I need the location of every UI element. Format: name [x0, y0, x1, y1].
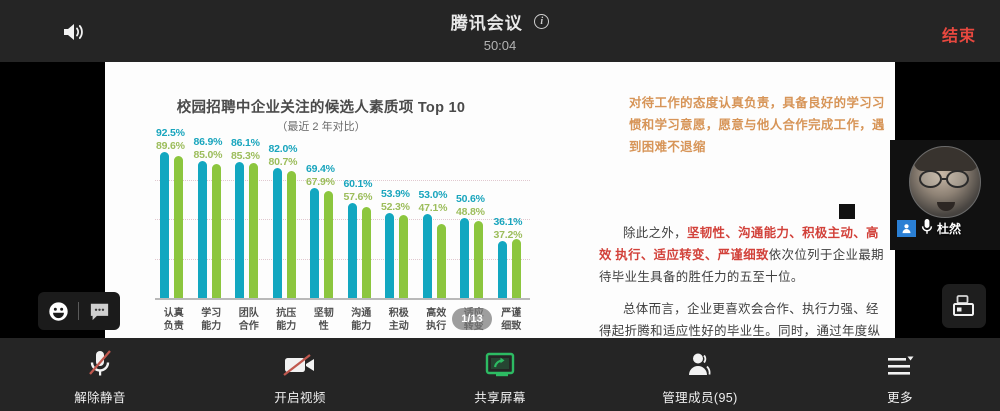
bar-green — [212, 164, 221, 298]
paragraph-two: 除此之外，坚韧性、沟通能力、积极主动、高效 执行、适应转变、严谨细致依次位列于企… — [599, 222, 889, 288]
bar-green — [174, 156, 183, 298]
manage-participants-label: 管理成员(95) — [662, 387, 737, 406]
chart-panel: 校园招聘中企业关注的候选人素质项 Top 10 （最近 2 年对比） 92.5%… — [105, 62, 537, 338]
unmute-button[interactable]: 解除静音 — [0, 338, 200, 411]
bar-group — [455, 140, 493, 298]
shared-content-stage: 校园招聘中企业关注的候选人素质项 Top 10 （最近 2 年对比） 92.5%… — [0, 62, 1000, 338]
chart-title: 校园招聘中企业关注的候选人素质项 Top 10 — [105, 96, 537, 117]
participant-tile[interactable]: 杜然 — [890, 140, 1000, 250]
share-screen-icon — [483, 347, 517, 380]
paragraph-highlight: 对待工作的态度认真负责，具备良好的学习习惯和学习意愿，愿意与他人合作完成工作，遇… — [629, 92, 885, 158]
bar-group — [343, 140, 381, 298]
manage-participants-button[interactable]: 管理成员(95) — [600, 338, 800, 411]
bar-group — [418, 140, 456, 298]
start-video-label: 开启视频 — [274, 387, 326, 406]
bar-chart-plot: 92.5%89.6%86.9%85.0%86.1%85.3%82.0%80.7%… — [155, 140, 530, 298]
end-meeting-button[interactable]: 结束 — [942, 22, 976, 46]
bar-teal — [273, 168, 282, 298]
glasses-left — [919, 170, 942, 188]
bar-value-label: 37.2% — [494, 229, 542, 241]
glasses-right — [946, 170, 969, 188]
bar-teal — [310, 188, 319, 298]
bar-green — [474, 221, 483, 298]
emoji-icon[interactable] — [38, 292, 78, 330]
bar-value-label: 36.1% — [494, 216, 542, 228]
unmute-label: 解除静音 — [74, 387, 126, 406]
bar-group — [230, 140, 268, 298]
bar-green — [362, 207, 371, 298]
bar-teal — [198, 161, 207, 298]
x-axis-label: 高效执行 — [416, 308, 456, 333]
avatar-hair — [914, 147, 978, 171]
meeting-title-wrap: 腾讯会议 i 50:04 — [0, 9, 1000, 53]
bar-green — [249, 163, 258, 298]
x-axis-label: 学习能力 — [191, 308, 231, 333]
bar-teal — [348, 203, 357, 298]
x-axis-label: 抗压能力 — [266, 308, 306, 333]
reaction-bar — [38, 292, 120, 330]
share-screen-button[interactable]: 共享屏幕 — [400, 338, 600, 411]
chat-icon[interactable] — [79, 292, 119, 330]
share-screen-label: 共享屏幕 — [474, 387, 526, 406]
more-button[interactable]: 更多 — [800, 338, 1000, 411]
more-label: 更多 — [887, 387, 913, 406]
chart-x-axis — [155, 298, 530, 300]
paragraph-two-lead: 除此之外， — [623, 226, 687, 240]
participants-icon — [683, 347, 717, 380]
bar-group — [193, 140, 231, 298]
glasses-bridge — [942, 178, 948, 180]
slide-page-indicator: 1/13 — [452, 308, 492, 330]
microphone-icon — [920, 218, 934, 241]
bar-teal — [160, 152, 169, 298]
layout-icon[interactable] — [942, 284, 986, 328]
person-icon — [897, 220, 916, 237]
x-axis-label: 团队合作 — [229, 308, 269, 333]
bottom-toolbar: 解除静音 开启视频 共享屏幕 — [0, 338, 1000, 411]
bar-teal — [460, 218, 469, 298]
bar-green — [437, 224, 446, 298]
bar-group — [155, 140, 193, 298]
bar-green — [399, 215, 408, 298]
cursor-block — [839, 204, 855, 219]
avatar — [909, 146, 981, 218]
start-video-button[interactable]: 开启视频 — [200, 338, 400, 411]
paragraph-three: 总体而言，企业更喜欢会合作、执行力强、经得起折腾和适应性好的毕业生。同时，通过年… — [599, 298, 889, 338]
bar-green — [324, 191, 333, 298]
top-bar: 腾讯会议 i 50:04 结束 — [0, 0, 1000, 62]
participant-name: 杜然 — [937, 220, 961, 237]
x-axis-label: 认真负责 — [154, 308, 194, 333]
page-title: 腾讯会议 — [451, 9, 523, 34]
bar-teal — [385, 213, 394, 298]
x-axis-label: 严谨细致 — [491, 308, 531, 333]
x-axis-label: 沟通能力 — [341, 308, 381, 333]
mic-muted-icon — [83, 347, 117, 380]
bar-teal — [423, 214, 432, 298]
more-icon — [884, 347, 916, 380]
x-axis-label: 坚韧性 — [304, 308, 344, 333]
bar-group — [380, 140, 418, 298]
meeting-timer: 50:04 — [0, 38, 1000, 53]
slide-text-panel: 对待工作的态度认真负责，具备良好的学习习惯和学习意愿，愿意与他人合作完成工作，遇… — [537, 62, 895, 338]
x-axis-label: 积极主动 — [379, 308, 419, 333]
info-icon[interactable]: i — [534, 14, 549, 29]
bar-teal — [235, 162, 244, 298]
avatar-mouth — [937, 202, 955, 211]
bar-green — [287, 171, 296, 299]
camera-off-icon — [281, 347, 319, 380]
bar-teal — [498, 241, 507, 298]
bar-green — [512, 239, 521, 298]
shared-slide[interactable]: 校园招聘中企业关注的候选人素质项 Top 10 （最近 2 年对比） 92.5%… — [105, 62, 895, 338]
